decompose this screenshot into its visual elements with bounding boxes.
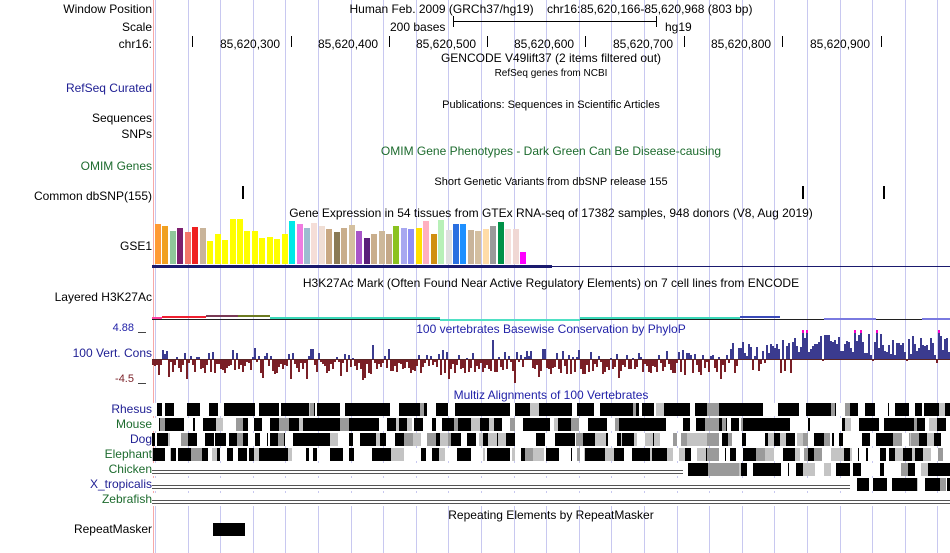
gtex-tissue-bar[interactable] (505, 229, 511, 264)
gtex-tissue-bar[interactable] (401, 228, 407, 264)
gtex-tissue-bar[interactable] (155, 224, 161, 264)
scale-bar-text: 200 bases (390, 21, 445, 33)
gtex-tissue-bar[interactable] (438, 220, 444, 264)
conservation-positive-bar (232, 350, 234, 359)
alignment-row[interactable] (152, 403, 950, 416)
alignment-block (471, 418, 480, 431)
label-repeatmasker[interactable]: RepeatMasker (2, 523, 152, 535)
conservation-negative-bar (230, 360, 232, 365)
dbsnp-tick[interactable] (883, 186, 885, 199)
gtex-tissue-bar[interactable] (259, 238, 265, 264)
gtex-tissue-bar[interactable] (244, 231, 250, 264)
conservation-positive-bar (344, 354, 346, 359)
conservation-negative-bar (630, 360, 632, 369)
alignment-block (940, 478, 946, 491)
conservation-negative-bar (370, 360, 372, 374)
alignment-block (224, 403, 233, 416)
alignment-block (371, 418, 379, 431)
species-label-dog[interactable]: Dog (2, 433, 152, 445)
conservation-positive-bar (292, 353, 294, 359)
label-sequences[interactable]: Sequences (2, 112, 152, 124)
gtex-tissue-bar[interactable] (408, 229, 414, 264)
conservation-positive-bar (632, 358, 634, 359)
alignment-block (917, 478, 918, 491)
alignment-block (495, 448, 502, 461)
gtex-tissue-bar[interactable] (215, 234, 221, 264)
conservation-positive-bar (616, 354, 618, 359)
alignment-block (890, 418, 899, 431)
alignment-block (306, 448, 309, 461)
alignment-block (536, 433, 545, 446)
conservation-negative-bar (906, 360, 908, 361)
alignment-block (627, 433, 634, 446)
alignment-block (330, 433, 338, 446)
alignment-block (244, 418, 248, 431)
alignment-block (380, 433, 386, 446)
alignment-block (742, 433, 746, 446)
conservation-positive-bar (626, 355, 628, 359)
conservation-positive-bar (750, 347, 752, 359)
alignment-block (512, 433, 515, 446)
alignment-block (814, 448, 822, 461)
conservation-positive-bar (498, 357, 500, 359)
alignment-block (243, 433, 248, 446)
ruler-tick-label: 85,620,500 (416, 38, 476, 50)
gtex-tissue-bar[interactable] (274, 239, 280, 264)
conservation-negative-bar (540, 360, 542, 371)
conservation-clip-marker (854, 330, 856, 333)
alignment-block (205, 433, 214, 446)
alignment-block (650, 418, 659, 431)
conservation-negative-bar (250, 360, 252, 370)
label-omim-genes[interactable]: OMIM Genes (2, 160, 152, 172)
alignment-block (215, 433, 224, 446)
gtex-tissue-bar[interactable] (230, 219, 236, 264)
gtex-baseline-thick (152, 265, 552, 268)
label-snps[interactable]: SNPs (2, 128, 152, 140)
gtex-tissue-bar[interactable] (252, 231, 258, 264)
conservation-positive-bar (694, 354, 696, 359)
conservation-positive-bar (384, 356, 386, 359)
conservation-positive-bar (520, 355, 522, 359)
gtex-tissue-bar[interactable] (200, 228, 206, 264)
conservation-positive-bar (666, 351, 668, 359)
conservation-negative-bar (168, 360, 170, 377)
alignment-block (414, 418, 423, 431)
alignment-block (558, 448, 559, 461)
alignment-block (353, 403, 362, 416)
alignment-block (825, 433, 830, 446)
gtex-tissue-bar[interactable] (393, 226, 399, 264)
ruler-tick-mark (192, 36, 193, 47)
alignment-row[interactable] (152, 493, 950, 506)
alignment-block (236, 418, 243, 431)
gtex-tissue-bar[interactable] (431, 234, 437, 264)
species-label-mouse[interactable]: Mouse (2, 418, 152, 430)
alignment-block (360, 433, 367, 446)
conservation-positive-bar (198, 357, 200, 359)
conservation-positive-bar (568, 355, 570, 359)
conservation-positive-bar (658, 355, 660, 359)
gtex-tissue-bar[interactable] (468, 230, 474, 264)
alignment-block (839, 433, 843, 446)
alignment-block (835, 403, 836, 416)
conservation-negative-bar (872, 360, 874, 361)
gtex-tissue-bar[interactable] (356, 231, 362, 264)
alignment-block (865, 403, 873, 416)
gtex-tissue-bar[interactable] (170, 231, 176, 264)
alignment-block (313, 448, 317, 461)
label-layered-h3k27ac[interactable]: Layered H3K27Ac (2, 291, 152, 303)
alignment-block (895, 403, 902, 416)
alignment-block (156, 448, 165, 461)
conservation-positive-bar (572, 357, 574, 359)
alignment-block (726, 403, 734, 416)
alignment-block (459, 403, 467, 416)
gtex-tissue-bar[interactable] (341, 228, 347, 264)
conservation-positive-bar (556, 353, 558, 359)
alignment-block (850, 448, 852, 461)
alignment-block (747, 448, 756, 461)
alignment-block (652, 448, 659, 461)
genome-browser-image: Window Position Scale chr16: RefSeq Cura… (0, 0, 950, 553)
alignment-block (254, 418, 262, 431)
alignment-block (686, 403, 690, 416)
alignment-block (863, 418, 870, 431)
alignment-block (473, 433, 476, 446)
gtex-tissue-bar[interactable] (326, 229, 332, 264)
alignment-block (432, 418, 436, 431)
alignment-block (197, 403, 200, 416)
alignment-block (788, 418, 790, 431)
alignment-block (665, 418, 666, 431)
alignment-block (831, 448, 840, 461)
conservation-positive-bar (352, 358, 354, 359)
alignment-block (819, 403, 826, 416)
conservation-positive-bar (348, 355, 350, 359)
alignment-block (902, 403, 909, 416)
alignment-block (160, 433, 168, 446)
h3k27ac-layered-signal[interactable] (152, 300, 950, 322)
alignment-block (424, 403, 427, 416)
alignment-block (596, 448, 605, 461)
alignment-block (715, 463, 722, 476)
alignment-row[interactable] (152, 478, 950, 491)
gtex-tissue-bar[interactable] (237, 219, 243, 264)
alignment-block (902, 418, 911, 431)
alignment-row[interactable] (152, 418, 950, 431)
conservation-positive-bar (212, 352, 214, 359)
alignment-block (664, 403, 672, 416)
h3k27ac-cellline-segment (440, 319, 580, 321)
gtex-tissue-bar[interactable] (349, 225, 355, 264)
alignment-block (942, 463, 950, 476)
alignment-row[interactable] (152, 463, 950, 476)
ruler-tick-label: 85,620,300 (220, 38, 280, 50)
conservation-negative-bar (570, 360, 572, 374)
conservation-negative-bar (182, 360, 184, 365)
species-label-x-tropicalis[interactable]: X_tropicalis (2, 478, 152, 490)
species-label-zebrafish[interactable]: Zebrafish (2, 493, 152, 505)
alignment-block (373, 403, 380, 416)
alignment-block (313, 418, 321, 431)
gtex-tissue-bar[interactable] (371, 234, 377, 264)
h3k27ac-cellline-segment (152, 317, 162, 319)
alignment-block (165, 418, 173, 431)
alignment-block (696, 433, 703, 446)
conservation-negative-bar (608, 360, 610, 370)
alignment-block (643, 418, 650, 431)
h3k27ac-cellline-segment (162, 316, 206, 318)
alignment-block (493, 403, 502, 416)
gtex-tissue-bar[interactable] (267, 237, 273, 264)
gtex-tissue-bar[interactable] (490, 226, 496, 264)
conservation-positive-bar (578, 350, 580, 359)
conservation-negative-bar (470, 360, 472, 368)
gtex-tissue-bar[interactable] (453, 224, 459, 264)
gtex-tissue-bar[interactable] (334, 232, 340, 264)
window-position-text: Human Feb. 2009 (GRCh37/hg19) chr16:85,6… (152, 3, 950, 15)
conservation-clip-marker (938, 330, 940, 333)
alignment-block (688, 463, 695, 476)
h3k27ac-cellline-segment (740, 316, 780, 318)
gtex-tissue-bar[interactable] (282, 234, 288, 264)
alignment-row[interactable] (152, 448, 950, 461)
conservation-positive-bar (870, 355, 872, 359)
alignment-block (796, 463, 803, 476)
conservation-positive-bar (530, 351, 532, 359)
gtex-tissue-bar[interactable] (185, 232, 191, 264)
alignment-block (494, 418, 502, 431)
gtex-tissue-bar[interactable] (207, 241, 213, 264)
gtex-tissue-bar[interactable] (289, 221, 295, 264)
conservation-positive-bar (820, 336, 822, 359)
alignment-block (179, 418, 184, 431)
conservation-positive-bar (336, 357, 338, 359)
alignment-block (293, 433, 302, 446)
conservation-positive-bar (702, 355, 704, 359)
gtex-tissue-bar[interactable] (416, 228, 422, 264)
alignment-block (168, 433, 170, 446)
conservation-negative-bar (596, 360, 598, 367)
alignment-block (778, 403, 786, 416)
alignment-block (487, 448, 495, 461)
alignment-block (588, 418, 597, 431)
gtex-tissue-bar[interactable] (498, 222, 504, 264)
conservation-clip-marker (876, 330, 878, 333)
ruler-tick-mark (291, 36, 292, 47)
label-chrom: chr16: (2, 38, 152, 50)
alignment-block (903, 448, 912, 461)
conservation-positive-bar (418, 355, 420, 359)
conservation-negative-bar (416, 360, 418, 366)
alignment-block (600, 403, 609, 416)
conservation-negative-bar (174, 360, 176, 365)
conservation-positive-bar (508, 356, 510, 359)
conservation-positive-bar (466, 358, 468, 359)
alignment-row[interactable] (152, 433, 950, 446)
title-layered-h3k27ac: H3K27Ac Mark (Often Found Near Active Re… (152, 277, 950, 289)
alignment-block (895, 448, 903, 461)
conservation-positive-bar (782, 340, 784, 359)
alignment-block (893, 433, 902, 446)
alignment-block (209, 403, 218, 416)
conservation-negative-bar (518, 360, 520, 362)
gtex-tissue-bar[interactable] (222, 240, 228, 264)
conservation-positive-bar (270, 356, 272, 359)
gtex-tissue-bar[interactable] (177, 228, 183, 264)
alignment-block (322, 403, 330, 416)
h3k27ac-cellline-segment (322, 317, 440, 319)
dbsnp-tick[interactable] (242, 186, 244, 199)
conservation-positive-bar (426, 355, 428, 359)
conservation-positive-bar (190, 356, 192, 359)
alignment-block (410, 418, 412, 431)
alignment-block (577, 448, 580, 461)
alignment-block (921, 463, 928, 476)
species-label-elephant[interactable]: Elephant (2, 448, 152, 460)
dbsnp-tick[interactable] (802, 186, 804, 199)
conservation-positive-bar (590, 352, 592, 359)
alignment-block (389, 403, 390, 416)
conservation-positive-bar (788, 343, 790, 359)
gtex-tissue-bar[interactable] (386, 234, 392, 264)
alignment-block (772, 463, 781, 476)
conservation-negative-bar (680, 360, 682, 372)
alignment-block (645, 433, 653, 446)
conservation-negative-bar (624, 360, 626, 367)
conservation-negative-bar (514, 360, 516, 383)
gtex-tissue-bar[interactable] (423, 221, 429, 264)
conservation-positive-bar (492, 340, 494, 359)
alignment-block (443, 403, 448, 416)
alignment-block (932, 478, 939, 491)
label-refseq-curated[interactable]: RefSeq Curated (2, 82, 152, 94)
alignment-block (646, 403, 654, 416)
conservation-positive-bar (208, 353, 210, 359)
alignment-block (284, 433, 285, 446)
gtex-tissue-bar[interactable] (297, 224, 303, 264)
alignment-block (171, 448, 176, 461)
alignment-block (361, 418, 370, 431)
phylop-conservation-plot[interactable] (152, 330, 950, 388)
conservation-min-value: -4.5 (115, 373, 134, 385)
gtex-tissue-bar[interactable] (520, 252, 526, 264)
ruler-tick-mark (684, 36, 685, 47)
conservation-positive-bar (176, 357, 178, 359)
alignment-block (204, 418, 212, 431)
alignment-block (539, 403, 546, 416)
alignment-block (925, 478, 932, 491)
conservation-positive-bar (732, 343, 734, 359)
ruler-tick-mark (585, 36, 586, 47)
alignment-block (483, 448, 485, 461)
ruler-tick-mark (389, 36, 390, 47)
label-common-dbsnp[interactable]: Common dbSNP(155) (2, 190, 152, 202)
alignment-block (217, 448, 220, 461)
alignment-block (427, 433, 436, 446)
gtex-tissue-bar[interactable] (311, 223, 317, 264)
alignment-block (870, 418, 879, 431)
gtex-tissue-bar[interactable] (319, 226, 325, 264)
repeatmasker-block[interactable] (213, 523, 245, 536)
species-label-rhesus[interactable]: Rhesus (2, 403, 152, 415)
gtex-tissue-bar[interactable] (364, 238, 370, 264)
alignment-block (873, 403, 875, 416)
conservation-positive-bar (598, 356, 600, 359)
gtex-tissue-bar[interactable] (513, 229, 519, 264)
gtex-tissue-bar[interactable] (475, 231, 481, 264)
alignment-block (238, 448, 247, 461)
conservation-positive-bar (258, 356, 260, 359)
conservation-negative-bar (700, 360, 702, 375)
conservation-negative-bar (234, 360, 236, 370)
alignment-block (880, 463, 884, 476)
label-100-vert-cons[interactable]: 100 Vert. Cons (2, 347, 152, 359)
alignment-block (940, 433, 941, 446)
alignment-block (912, 463, 915, 476)
alignment-block (563, 418, 571, 431)
conservation-negative-bar (588, 360, 590, 372)
alignment-block (349, 448, 354, 461)
conservation-positive-bar (682, 350, 684, 359)
label-gse1[interactable]: GSE1 (2, 240, 152, 252)
conservation-negative-bar (676, 360, 678, 363)
conservation-negative-bar (286, 360, 288, 366)
conservation-positive-bar (388, 349, 390, 359)
alignment-block (301, 403, 309, 416)
gtex-expression-bargraph[interactable] (152, 218, 950, 268)
alignment-gap-line (152, 500, 950, 501)
conservation-negative-bar (822, 360, 824, 361)
conservation-positive-bar (934, 355, 936, 359)
alignment-block (482, 418, 489, 431)
scale-bar-right-cap (656, 16, 657, 27)
gtex-tissue-bar[interactable] (304, 228, 310, 264)
conservation-positive-bar (516, 352, 518, 359)
alignment-block (498, 433, 506, 446)
gtex-tissue-bar[interactable] (446, 230, 452, 264)
alignment-block (707, 448, 719, 461)
ruler-tick-label: 85,620,700 (613, 38, 673, 50)
alignment-block (270, 433, 278, 446)
alignment-block (857, 478, 866, 491)
conservation-negative-bar (724, 360, 726, 372)
gtex-tissue-bar[interactable] (192, 227, 198, 264)
alignment-block (436, 403, 443, 416)
scale-bar-line (453, 21, 657, 22)
gtex-tissue-bar[interactable] (162, 226, 168, 264)
alignment-block (271, 403, 279, 416)
conservation-negative-bar (256, 360, 258, 362)
species-label-chicken[interactable]: Chicken (2, 463, 152, 475)
title-sequences: Publications: Sequences in Scientific Ar… (152, 99, 950, 111)
alignment-block (585, 403, 592, 416)
conservation-max-value: 4.88 (113, 322, 134, 334)
alignment-block (512, 448, 515, 461)
gtex-tissue-bar[interactable] (460, 224, 466, 264)
alignment-block (642, 448, 650, 461)
alignment-block (697, 448, 706, 461)
conservation-clip-marker (802, 330, 804, 333)
gtex-tissue-bar[interactable] (379, 231, 385, 264)
conservation-positive-bar (640, 357, 642, 359)
gtex-tissue-bar[interactable] (483, 229, 489, 264)
ruler-tick-label: 85,620,600 (514, 38, 574, 50)
alignment-block (909, 478, 917, 491)
alignment-block (510, 418, 515, 431)
alignment-block (432, 448, 439, 461)
